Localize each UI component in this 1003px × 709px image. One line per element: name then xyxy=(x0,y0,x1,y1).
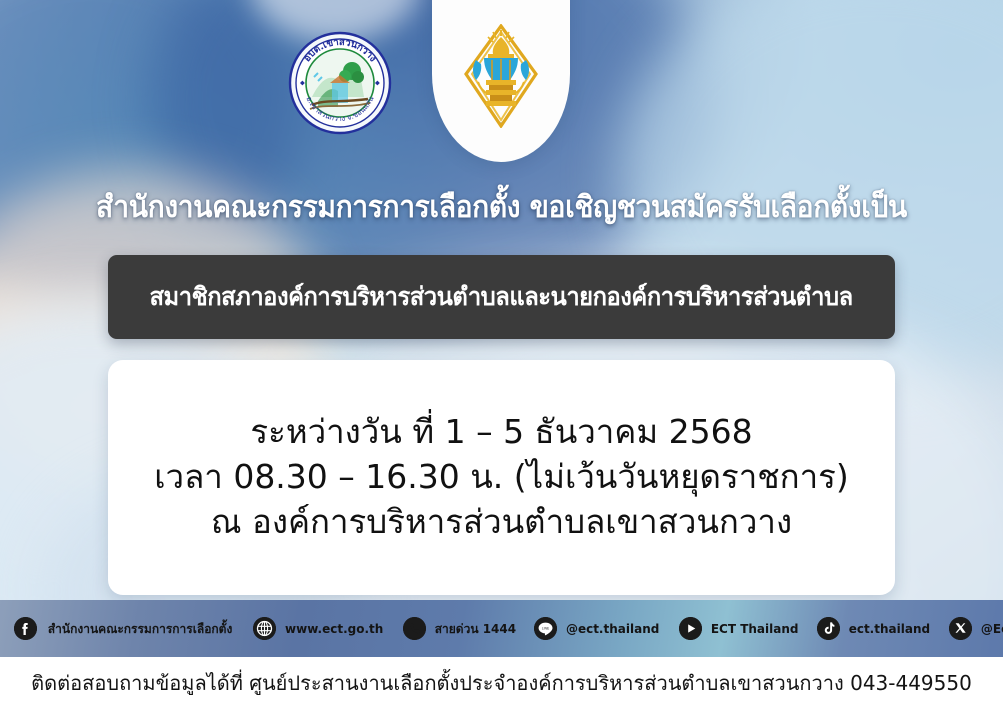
details-line-place: ณ องค์การบริหารส่วนตำบลเขาสวนกวาง xyxy=(211,501,792,544)
footer-label-website: www.ect.go.th xyxy=(285,621,383,636)
facebook-icon xyxy=(14,617,37,640)
footer-item-line[interactable]: LINE @ect.thailand xyxy=(534,617,661,640)
footer-label-x: @EctThailand xyxy=(981,621,1003,636)
details-line-date: ระหว่างวัน ที่ 1 – 5 ธันวาคม 2568 xyxy=(250,411,752,454)
poster-subtitle-bar: สมาชิกสภาองค์การบริหารส่วนตำบลและนายกองค… xyxy=(108,255,895,339)
footer-label-tiktok: ect.thailand xyxy=(849,621,930,636)
footer-item-website[interactable]: www.ect.go.th xyxy=(253,617,385,640)
sao-seal-icon: อบต.เขาสวนกวาง อ.เขาสวนกวาง จ.ขอนแก่น xyxy=(288,31,392,135)
footer-label-youtube: ECT Thailand xyxy=(710,621,798,636)
phone-icon xyxy=(403,617,426,640)
poster-page: · อบต.เขาสวนกวาง อ.เขาสวนกวา xyxy=(0,0,1003,709)
poster-headline: สำนักงานคณะกรรมการการเลือกตั้ง ขอเชิญชวน… xyxy=(30,184,973,231)
ect-emblem-icon: · xyxy=(462,24,540,128)
svg-text:·: · xyxy=(500,120,501,125)
contact-caption-text: ติดต่อสอบถามข้อมูลได้ที่ ศูนย์ประสานงานเ… xyxy=(31,667,972,699)
footer-item-youtube[interactable]: ECT Thailand xyxy=(679,617,800,640)
footer-item-hotline[interactable]: สายด่วน 1444 xyxy=(403,617,518,640)
youtube-icon xyxy=(679,617,702,640)
footer-item-facebook[interactable]: สำนักงานคณะกรรมการการเลือกตั้ง xyxy=(14,617,236,640)
footer-item-x[interactable]: @EctThailand xyxy=(949,617,1003,640)
line-icon: LINE xyxy=(534,617,557,640)
contact-caption: ติดต่อสอบถามข้อมูลได้ที่ ศูนย์ประสานงานเ… xyxy=(0,657,1003,709)
poster-canvas: · อบต.เขาสวนกวาง อ.เขาสวนกวา xyxy=(0,0,1003,657)
details-line-time: เวลา 08.30 – 16.30 น. (ไม่เว้นวันหยุดราช… xyxy=(154,456,848,499)
details-card: ระหว่างวัน ที่ 1 – 5 ธันวาคม 2568 เวลา 0… xyxy=(108,360,895,595)
contact-footer-bar: สำนักงานคณะกรรมการการเลือกตั้ง www.ect.g… xyxy=(0,600,1003,657)
globe-icon xyxy=(253,617,276,640)
x-twitter-icon xyxy=(949,617,972,640)
tiktok-icon xyxy=(817,617,840,640)
footer-label-line: @ect.thailand xyxy=(566,621,659,636)
footer-item-tiktok[interactable]: ect.thailand xyxy=(817,617,932,640)
footer-label-hotline: สายด่วน 1444 xyxy=(434,619,515,639)
poster-subtitle-text: สมาชิกสภาองค์การบริหารส่วนตำบลและนายกองค… xyxy=(150,277,853,317)
footer-label-facebook: สำนักงานคณะกรรมการการเลือกตั้ง xyxy=(48,619,232,639)
svg-text:LINE: LINE xyxy=(542,626,550,630)
